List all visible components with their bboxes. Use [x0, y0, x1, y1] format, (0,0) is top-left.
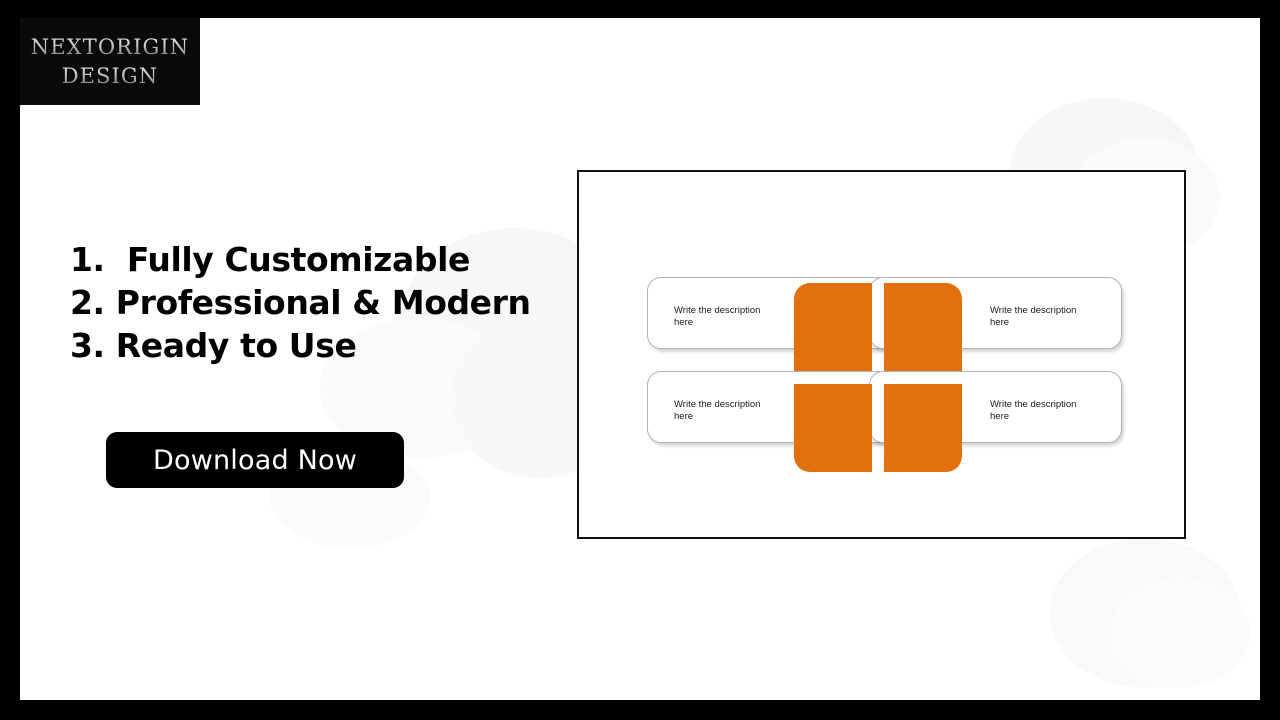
description-card-text: Write the description here: [990, 399, 1095, 423]
list-item: 3. Ready to Use: [70, 324, 540, 367]
brand-logo-line-1: NEXTORIGIN: [31, 33, 189, 61]
feature-list: 1. Fully Customizable 2. Professional & …: [70, 238, 540, 367]
brand-logo: NEXTORIGIN DESIGN: [20, 18, 200, 105]
tile-top-right[interactable]: [884, 283, 962, 371]
diagram-content: Write the description here Write the des…: [579, 172, 1184, 537]
left-content-column: 1. Fully Customizable 2. Professional & …: [70, 238, 540, 367]
description-card-text: Write the description here: [674, 399, 779, 423]
description-card-text: Write the description here: [674, 305, 779, 329]
download-now-button[interactable]: Download Now: [106, 432, 404, 488]
tile-bottom-right[interactable]: [884, 384, 962, 472]
slide-canvas: NEXTORIGIN DESIGN 1. Fully Customizable …: [20, 18, 1260, 700]
list-item: 2. Professional & Modern: [70, 281, 540, 324]
description-card-text: Write the description here: [990, 305, 1095, 329]
brand-logo-line-2: DESIGN: [62, 62, 159, 90]
tile-bottom-left[interactable]: [794, 384, 872, 472]
watermark-blob: [1110, 578, 1250, 688]
quadrant-tile-grid: [794, 283, 964, 473]
watermark-blob: [1050, 538, 1240, 688]
diagram-frame: Write the description here Write the des…: [577, 170, 1186, 539]
list-item: 1. Fully Customizable: [70, 238, 540, 281]
tile-top-left[interactable]: [794, 283, 872, 371]
slide-stage: NEXTORIGIN DESIGN 1. Fully Customizable …: [0, 0, 1280, 720]
